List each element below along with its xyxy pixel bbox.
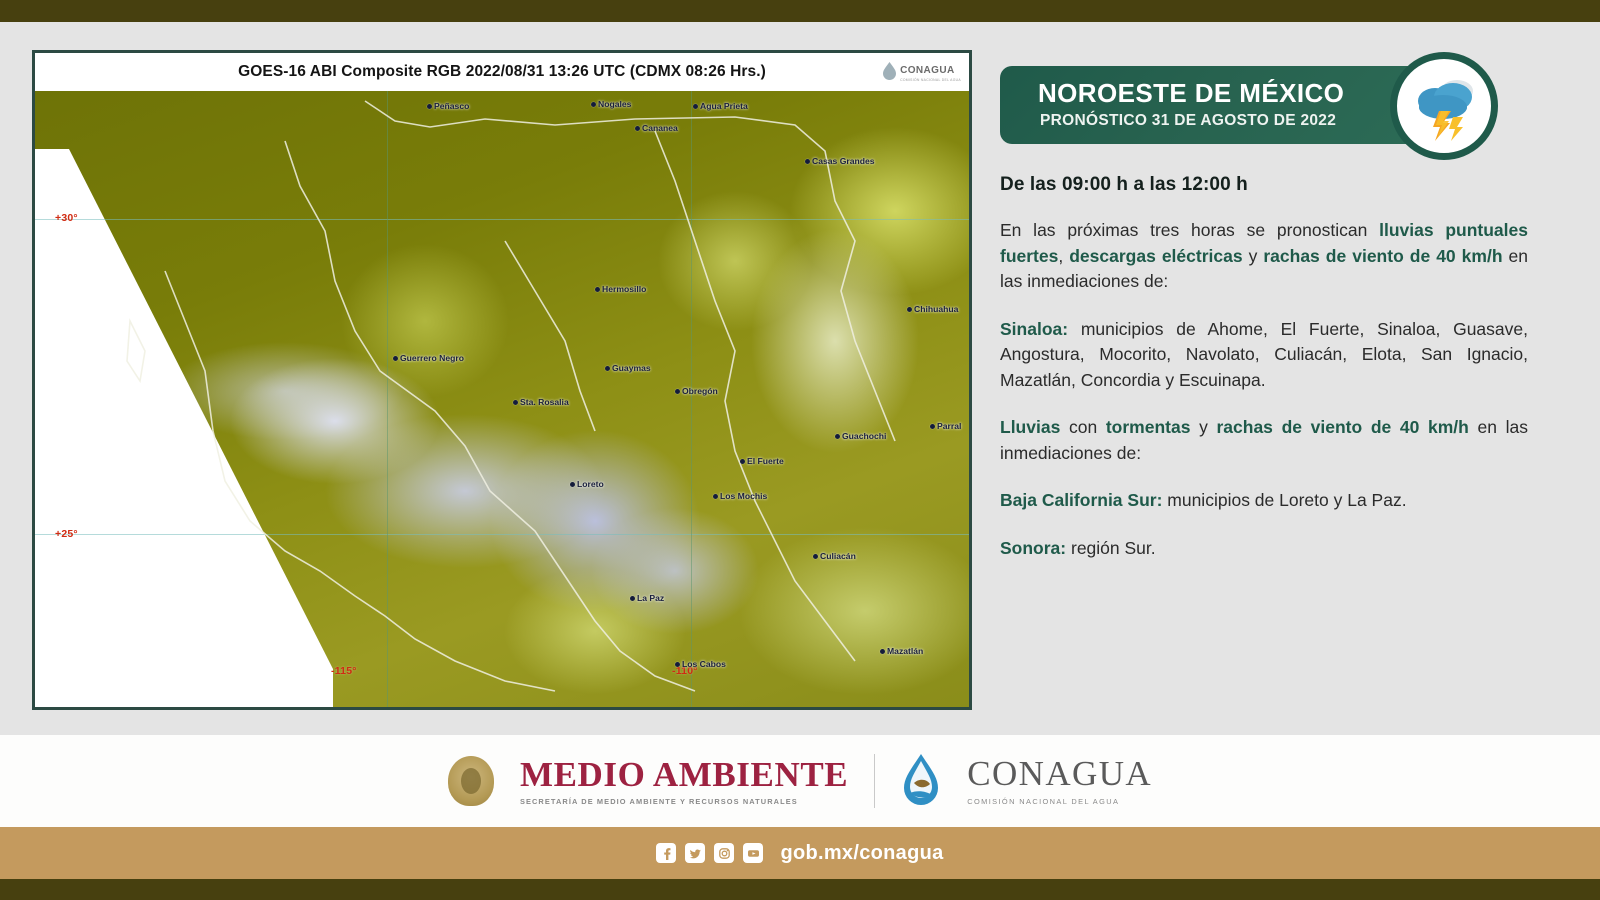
city-label: Guaymas bbox=[605, 363, 651, 373]
map-title: GOES-16 ABI Composite RGB 2022/08/31 13:… bbox=[238, 63, 766, 81]
forecast-paragraph-sonora: Sonora: región Sur. bbox=[1000, 536, 1528, 562]
satellite-map-panel: +30° +25° -115° -110° Peñasco Nogales Ag… bbox=[32, 50, 972, 710]
water-drop-icon bbox=[883, 62, 896, 80]
ministry-subtitle: SECRETARÍA DE MEDIO AMBIENTE Y RECURSOS … bbox=[520, 798, 848, 805]
city-label: Peñasco bbox=[427, 101, 469, 111]
city-label: Cananea bbox=[635, 123, 678, 133]
city-label: Guerrero Negro bbox=[393, 353, 464, 363]
youtube-icon[interactable] bbox=[743, 843, 763, 863]
ministry-logo-text: MEDIO AMBIENTE SECRETARÍA DE MEDIO AMBIE… bbox=[520, 757, 848, 805]
intro-lead: En las próximas tres horas se pronostica… bbox=[1000, 220, 1379, 240]
city-label: Sta. Rosalia bbox=[513, 397, 569, 407]
forecast-paragraph-intro: En las próximas tres horas se pronostica… bbox=[1000, 218, 1528, 295]
region-title: NOROESTE DE MÉXICO bbox=[1038, 78, 1344, 109]
logo-divider bbox=[874, 754, 875, 808]
sinaloa-municipalities: municipios de Ahome, El Fuerte, Sinaloa,… bbox=[1000, 319, 1528, 390]
satellite-imagery: +30° +25° -115° -110° Peñasco Nogales Ag… bbox=[35, 91, 972, 710]
city-label: Loreto bbox=[570, 479, 604, 489]
city-label: Guachochi bbox=[835, 431, 886, 441]
top-accent-bar bbox=[0, 0, 1600, 22]
city-label: Los Cabos bbox=[675, 659, 726, 669]
coastline-overlay bbox=[35, 91, 972, 710]
city-label: Hermosillo bbox=[595, 284, 646, 294]
city-label: Culiacán bbox=[813, 551, 856, 561]
storms-bold-rain: Lluvias bbox=[1000, 417, 1060, 437]
state-label-sinaloa: Sinaloa: bbox=[1000, 319, 1068, 339]
sonora-regions: región Sur. bbox=[1066, 538, 1156, 558]
city-label: Mazatlán bbox=[880, 646, 923, 656]
city-label: Chihuahua bbox=[907, 304, 958, 314]
agency-logo-text: CONAGUA COMISIÓN NACIONAL DEL AGUA bbox=[967, 756, 1152, 805]
footer-logos: MEDIO AMBIENTE SECRETARÍA DE MEDIO AMBIE… bbox=[0, 735, 1600, 827]
bcs-municipalities: municipios de Loreto y La Paz. bbox=[1162, 490, 1406, 510]
forecast-hours: De las 09:00 h a las 12:00 h bbox=[1000, 174, 1528, 196]
storms-bold-wind: rachas de viento de 40 km/h bbox=[1216, 417, 1468, 437]
conagua-url[interactable]: gob.mx/conagua bbox=[780, 842, 943, 865]
intro-bold-wind: rachas de viento de 40 km/h bbox=[1263, 246, 1502, 266]
state-label-sonora: Sonora: bbox=[1000, 538, 1066, 558]
instagram-icon[interactable] bbox=[714, 843, 734, 863]
mexico-coat-of-arms-icon bbox=[448, 756, 494, 806]
city-label: El Fuerte bbox=[740, 456, 784, 466]
region-header: NOROESTE DE MÉXICO PRONÓSTICO 31 DE AGOS… bbox=[1000, 52, 1528, 160]
forecast-paragraph-storms: Lluvias con tormentas y rachas de viento… bbox=[1000, 415, 1528, 466]
intro-bold-lightning: descargas eléctricas bbox=[1069, 246, 1242, 266]
city-label: Nogales bbox=[591, 99, 631, 109]
agency-subtitle: COMISIÓN NACIONAL DEL AGUA bbox=[967, 798, 1152, 805]
map-watermark-text: CONAGUA COMISIÓN NACIONAL DEL AGUA bbox=[900, 60, 961, 82]
storms-mid2: y bbox=[1190, 417, 1216, 437]
intro-sep2: y bbox=[1243, 246, 1264, 266]
facebook-icon[interactable] bbox=[656, 843, 676, 863]
forecast-paragraph-bcs: Baja California Sur: municipios de Loret… bbox=[1000, 488, 1528, 514]
city-label: Obregón bbox=[675, 386, 718, 396]
city-label: Los Mochis bbox=[713, 491, 767, 501]
city-label: Parral bbox=[930, 421, 961, 431]
forecast-info-panel: NOROESTE DE MÉXICO PRONÓSTICO 31 DE AGOS… bbox=[1000, 52, 1528, 561]
storms-bold-tormentas: tormentas bbox=[1106, 417, 1191, 437]
storms-mid1: con bbox=[1060, 417, 1106, 437]
map-watermark: CONAGUA COMISIÓN NACIONAL DEL AGUA bbox=[883, 60, 961, 82]
twitter-icon[interactable] bbox=[685, 843, 705, 863]
map-header-bar: GOES-16 ABI Composite RGB 2022/08/31 13:… bbox=[35, 53, 969, 91]
forecast-date: PRONÓSTICO 31 DE AGOSTO DE 2022 bbox=[1040, 112, 1336, 130]
thunderstorm-icon bbox=[1390, 52, 1498, 160]
city-label: Casas Grandes bbox=[805, 156, 875, 166]
city-label: Agua Prieta bbox=[693, 101, 748, 111]
conagua-drop-icon bbox=[901, 753, 941, 809]
agency-name: CONAGUA bbox=[967, 756, 1152, 791]
intro-sep1: , bbox=[1058, 246, 1069, 266]
forecast-paragraph-sinaloa: Sinaloa: municipios de Ahome, El Fuerte,… bbox=[1000, 317, 1528, 394]
city-label: La Paz bbox=[630, 593, 664, 603]
social-links: gob.mx/conagua bbox=[0, 827, 1600, 879]
state-label-bcs: Baja California Sur: bbox=[1000, 490, 1162, 510]
bottom-accent-bar bbox=[0, 879, 1600, 900]
ministry-name: MEDIO AMBIENTE bbox=[520, 757, 848, 792]
